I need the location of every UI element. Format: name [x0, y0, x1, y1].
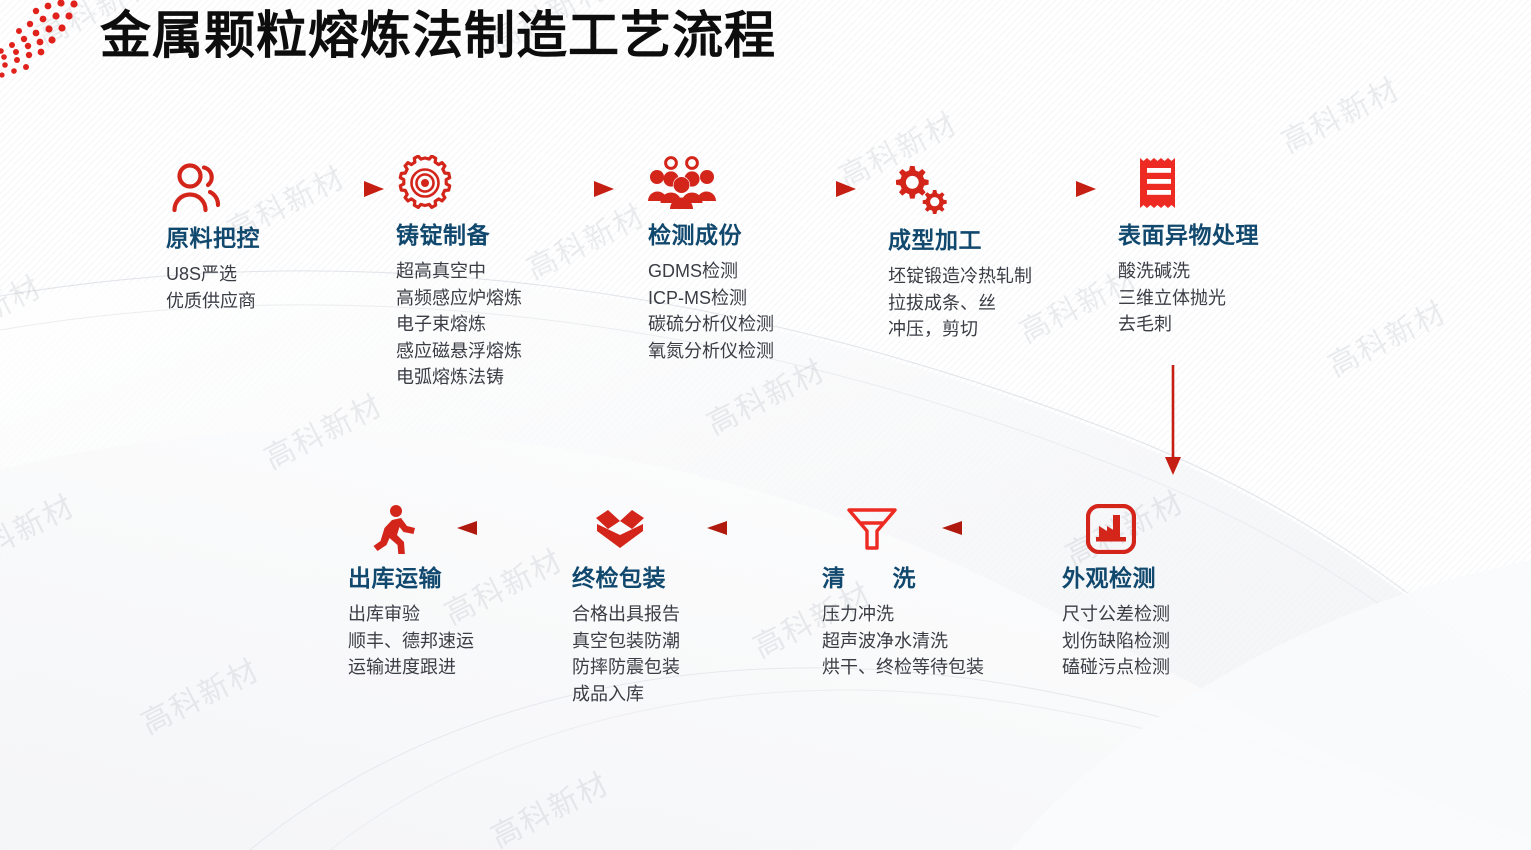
step-title: 出库运输	[348, 564, 598, 594]
watermark-text: 高科新材	[255, 381, 389, 478]
step-detail-list: 酸洗碱洗 三维立体抛光 去毛刺	[1118, 258, 1368, 338]
two-gears-icon	[888, 160, 1138, 216]
detail-line: 拉拔成条、丝	[888, 290, 1138, 317]
step-detail-list: GDMS检测 ICP-MS检测 碳硫分析仪检测 氧氮分析仪检测	[648, 258, 898, 364]
detail-line: GDMS检测	[648, 258, 898, 285]
arrow-down-connector	[1160, 365, 1186, 477]
detail-line: 高频感应炉熔炼	[396, 285, 646, 312]
flow-step-ingot-preparation[interactable]: 铸锭制备 超高真空中 高频感应炉熔炼 电子束熔炼 感应磁悬浮熔炼 电弧熔炼法铸	[396, 155, 646, 391]
detail-line: 酸洗碱洗	[1118, 258, 1368, 285]
detail-line: 真空包装防潮	[572, 628, 822, 655]
detail-line: 烘干、终检等待包装	[822, 654, 994, 681]
flow-step-raw-material-control[interactable]: 原料把控 U8S严选 优质供应商	[166, 158, 416, 314]
detail-line: 超声波净水清洗	[822, 628, 994, 655]
detail-line: 三维立体抛光	[1118, 285, 1368, 312]
detail-line: ICP-MS检测	[648, 285, 898, 312]
background-swoosh	[0, 0, 1531, 850]
dot-arc-decoration	[0, 0, 108, 102]
people-group-icon	[648, 155, 898, 211]
detail-line: 电子束熔炼	[396, 311, 646, 338]
detail-line: 合格出具报告	[572, 601, 822, 628]
detail-line: 顺丰、德邦速运	[348, 628, 598, 655]
watermark-text: 高科新材	[1093, 0, 1227, 6]
detail-line: 运输进度跟进	[348, 654, 598, 681]
detail-line: 氧氮分析仪检测	[648, 338, 898, 365]
step-detail-list: 尺寸公差检测 划伤缺陷检测 磕碰污点检测	[1062, 601, 1312, 681]
flow-step-forming-processing[interactable]: 成型加工 坯锭锻造冷热轧制 拉拔成条、丝 冲压，剪切	[888, 160, 1138, 343]
background-decoration: 高科新材 高科新材 高科新材 高科新材 高科新材 高科新材 高科新材 高科新材 …	[0, 0, 1531, 850]
flow-step-final-inspection-packing[interactable]: 终检包装 合格出具报告 真空包装防潮 防摔防震包装 成品入库	[572, 498, 822, 707]
detail-line: 出库审验	[348, 601, 598, 628]
step-detail-list: U8S严选 优质供应商	[166, 261, 416, 314]
flow-step-cleaning[interactable]: 清 洗 压力冲洗 超声波净水清洗 烘干、终检等待包装	[822, 498, 1072, 681]
flow-step-appearance-inspection[interactable]: 外观检测 尺寸公差检测 划伤缺陷检测 磕碰污点检测	[1062, 498, 1312, 681]
detail-line: 优质供应商	[166, 288, 416, 315]
detail-line: 压力冲洗	[822, 601, 994, 628]
detail-line: 尺寸公差检测	[1062, 601, 1312, 628]
diagonal-stripe-pattern	[0, 0, 1531, 850]
flow-step-outbound-shipping[interactable]: 出库运输 出库审验 顺丰、德邦速运 运输进度跟进	[348, 498, 598, 681]
step-detail-list: 超高真空中 高频感应炉熔炼 电子束熔炼 感应磁悬浮熔炼 电弧熔炼法铸	[396, 258, 646, 391]
detail-line: 碳硫分析仪检测	[648, 311, 898, 338]
gear-target-icon	[396, 155, 646, 211]
step-detail-list: 坯锭锻造冷热轧制 拉拔成条、丝 冲压，剪切	[888, 263, 1138, 343]
detail-line: 电弧熔炼法铸	[396, 364, 646, 391]
step-title: 成型加工	[888, 226, 1138, 256]
two-people-icon	[166, 158, 416, 214]
detail-line: 磕碰污点检测	[1062, 654, 1312, 681]
watermark-text: 高科新材	[1273, 64, 1407, 161]
detail-line: 感应磁悬浮熔炼	[396, 338, 646, 365]
step-title: 原料把控	[166, 224, 416, 254]
step-title: 表面异物处理	[1118, 221, 1368, 251]
step-detail-list: 出库审验 顺丰、德邦速运 运输进度跟进	[348, 601, 598, 681]
step-title: 铸锭制备	[396, 221, 646, 251]
detail-line: 去毛刺	[1118, 311, 1368, 338]
step-title: 外观检测	[1062, 564, 1312, 594]
detail-line: 冲压，剪切	[888, 316, 1138, 343]
watermark-text: 高科新材	[132, 645, 266, 742]
step-detail-list: 压力冲洗 超声波净水清洗 烘干、终检等待包装	[822, 601, 1072, 681]
funnel-icon	[822, 498, 1072, 554]
step-title: 检测成份	[648, 221, 898, 251]
step-title: 清 洗	[822, 564, 1072, 594]
detail-line: 超高真空中	[396, 258, 646, 285]
detail-line: 防摔防震包装	[572, 654, 822, 681]
slide-canvas: 高科新材 高科新材 高科新材 高科新材 高科新材 高科新材 高科新材 高科新材 …	[0, 0, 1531, 850]
receipt-icon	[1118, 155, 1368, 211]
watermark-text: 高科新材	[482, 759, 616, 850]
detail-line: 成品入库	[572, 681, 822, 708]
detail-line: U8S严选	[166, 261, 416, 288]
page-title: 金属颗粒熔炼法制造工艺流程	[100, 4, 776, 70]
step-title: 终检包装	[572, 564, 822, 594]
detail-line: 划伤缺陷检测	[1062, 628, 1312, 655]
open-box-icon	[572, 498, 822, 554]
factory-badge-icon	[1062, 498, 1312, 554]
step-detail-list: 合格出具报告 真空包装防潮 防摔防震包装 成品入库	[572, 601, 822, 707]
watermark-text: 高科新材	[0, 481, 82, 578]
detail-line: 坯锭锻造冷热轧制	[888, 263, 1138, 290]
running-person-icon	[348, 498, 598, 554]
watermark-text: 高科新材	[0, 262, 49, 359]
flow-step-surface-treatment[interactable]: 表面异物处理 酸洗碱洗 三维立体抛光 去毛刺	[1118, 155, 1368, 338]
watermark-grid: 高科新材 高科新材 高科新材 高科新材 高科新材 高科新材 高科新材 高科新材 …	[0, 0, 1531, 850]
flow-step-composition-testing[interactable]: 检测成份 GDMS检测 ICP-MS检测 碳硫分析仪检测 氧氮分析仪检测	[648, 155, 898, 364]
